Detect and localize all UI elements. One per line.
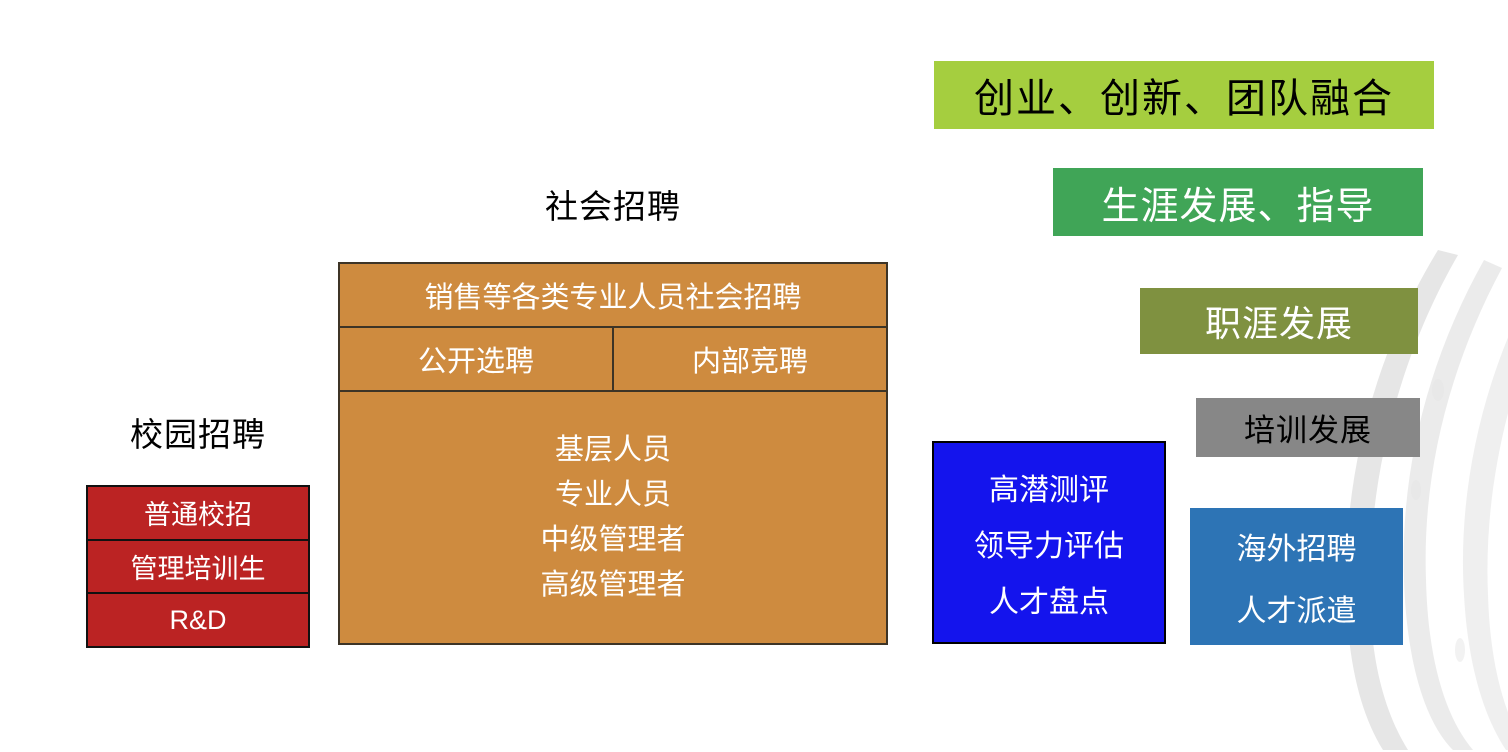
social-internal-competition-cell[interactable]: 内部竞聘 [612, 328, 886, 390]
tag-talent-assessment-block[interactable]: 高潜测评 领导力评估 人才盘点 [932, 441, 1166, 644]
social-open-selection-cell[interactable]: 公开选聘 [340, 328, 612, 390]
overseas-line: 海外招聘 [1237, 515, 1357, 577]
campus-item-management-trainee[interactable]: 管理培训生 [88, 539, 308, 593]
campus-item-label: 管理培训生 [131, 547, 266, 586]
social-header-cell[interactable]: 销售等各类专业人员社会招聘 [340, 264, 886, 326]
tag-entrepreneurship-innovation-team[interactable]: 创业、创新、团队融合 [934, 61, 1434, 129]
social-recruiting-title: 社会招聘 [338, 180, 888, 228]
social-level-label: 中级管理者 [540, 518, 685, 563]
assessment-line: 高潜测评 [989, 459, 1109, 515]
social-recruiting-table: 销售等各类专业人员社会招聘 公开选聘 内部竞聘 基层人员 专业人员 中级管理者 … [338, 262, 888, 645]
tag-label: 培训发展 [1244, 405, 1372, 450]
table-row: 销售等各类专业人员社会招聘 [340, 264, 886, 326]
tag-label: 职涯发展 [1205, 295, 1353, 347]
campus-recruiting-title: 校园招聘 [86, 408, 310, 456]
tag-career-development-guidance[interactable]: 生涯发展、指导 [1053, 168, 1423, 236]
social-level-label: 专业人员 [555, 473, 671, 518]
campus-item-label: R&D [169, 605, 226, 636]
campus-item-standard[interactable]: 普通校招 [88, 487, 308, 539]
social-levels-cell[interactable]: 基层人员 专业人员 中级管理者 高级管理者 [340, 392, 886, 643]
tag-career-path-development[interactable]: 职涯发展 [1140, 288, 1418, 354]
assessment-line: 领导力评估 [974, 515, 1124, 571]
slide-canvas: 校园招聘 普通校招 管理培训生 R&D 社会招聘 销售等各类专业人员社会招聘 公… [0, 0, 1508, 752]
tag-label: 创业、创新、团队融合 [974, 66, 1394, 124]
tag-overseas-recruiting-block[interactable]: 海外招聘 人才派遣 [1190, 508, 1403, 645]
social-level-label: 基层人员 [555, 428, 671, 473]
campus-recruiting-stack: 普通校招 管理培训生 R&D [86, 485, 310, 648]
social-level-label: 高级管理者 [540, 563, 685, 608]
campus-item-label: 普通校招 [144, 493, 252, 532]
tag-training-development[interactable]: 培训发展 [1196, 398, 1420, 457]
social-header-label: 销售等各类专业人员社会招聘 [424, 274, 801, 316]
assessment-line: 人才盘点 [989, 571, 1109, 627]
social-open-selection-label: 公开选聘 [418, 338, 534, 380]
table-row: 公开选聘 内部竞聘 [340, 326, 886, 390]
campus-item-rnd[interactable]: R&D [88, 592, 308, 646]
overseas-line: 人才派遣 [1237, 577, 1357, 639]
social-internal-competition-label: 内部竞聘 [692, 338, 808, 380]
table-row: 基层人员 专业人员 中级管理者 高级管理者 [340, 390, 886, 643]
tag-label: 生涯发展、指导 [1101, 175, 1374, 230]
